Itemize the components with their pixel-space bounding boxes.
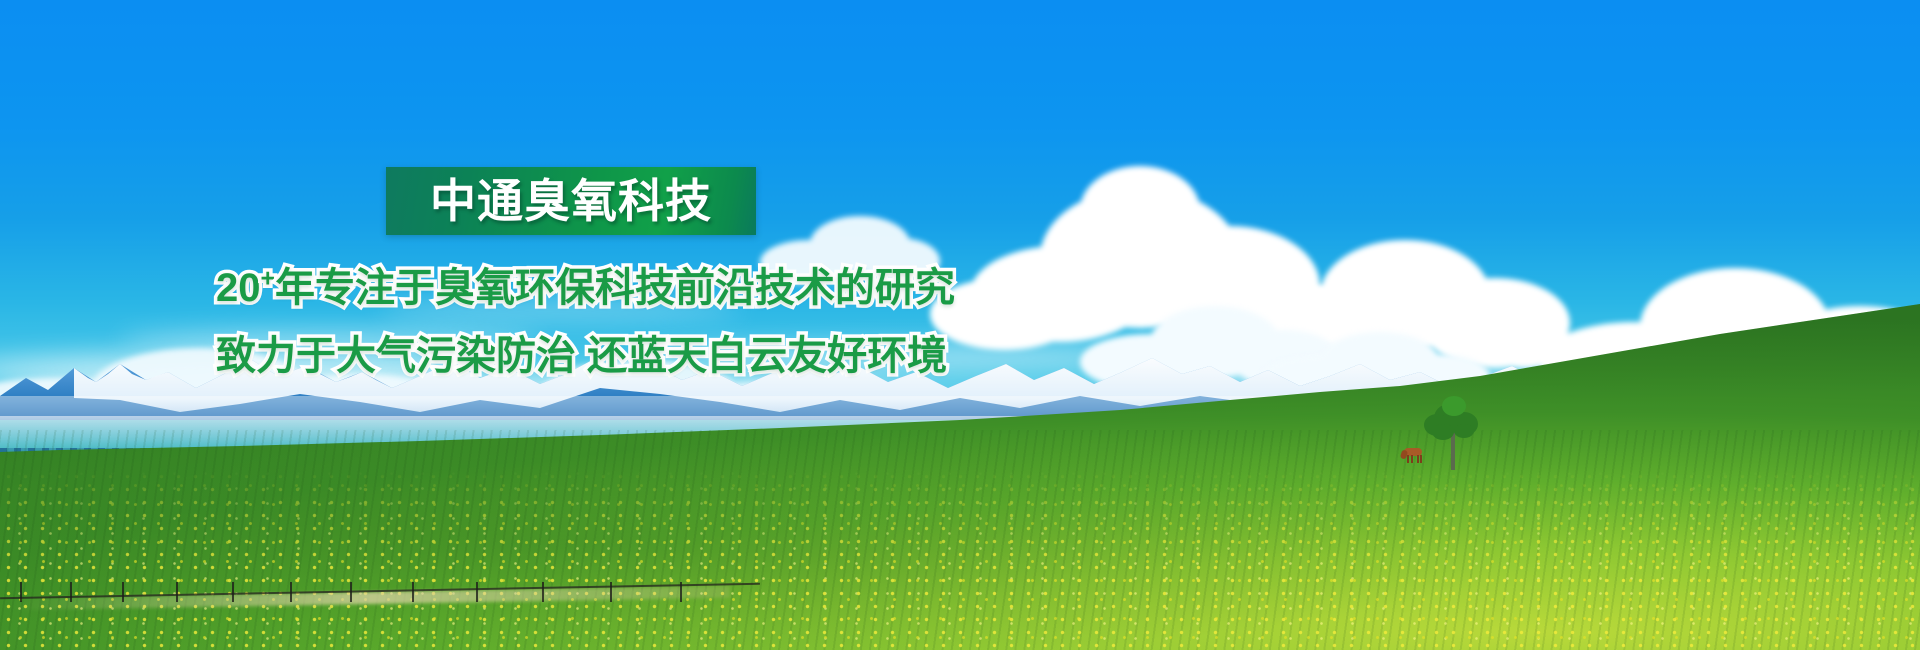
grazing-horse — [1400, 448, 1426, 464]
company-name-text: 中通臭氧科技 — [430, 178, 712, 224]
fence-post — [122, 582, 124, 602]
tagline-line-1-rest: 年专注于臭氧环保科技前沿技术的研究 — [275, 266, 955, 310]
fence-post — [476, 582, 478, 602]
fence-post — [350, 582, 352, 602]
fence-post — [20, 582, 22, 602]
tree-foliage — [1442, 396, 1466, 416]
fence-post — [290, 582, 292, 602]
tagline-line-1: 20+年专注于臭氧环保科技前沿技术的研究 — [216, 255, 955, 313]
tagline-line-2: 致力于大气污染防治 还蓝天白云友好环境 — [216, 323, 947, 381]
fence-post — [70, 582, 72, 602]
company-name-banner: 中通臭氧科技 — [386, 167, 756, 235]
wooden-fence — [0, 582, 760, 612]
horse-leg — [1411, 455, 1413, 463]
fence-post — [542, 582, 544, 602]
tagline-plus-superscript: + — [261, 266, 275, 293]
tagline-years-number: 20 — [216, 266, 261, 310]
lone-tree — [1424, 396, 1484, 470]
tree-foliage — [1454, 424, 1474, 438]
horse-leg — [1417, 455, 1419, 463]
yellow-flower-field — [0, 470, 1920, 650]
horse-leg — [1420, 455, 1422, 463]
fence-post — [176, 582, 178, 602]
fence-post — [680, 582, 682, 602]
fence-post — [232, 582, 234, 602]
hero-banner-image: 中通臭氧科技 20+年专注于臭氧环保科技前沿技术的研究 致力于大气污染防治 还蓝… — [0, 0, 1920, 650]
fence-post — [412, 582, 414, 602]
horse-leg — [1407, 455, 1409, 463]
tree-foliage — [1432, 424, 1454, 440]
fence-rail — [0, 583, 760, 600]
fence-post — [610, 582, 612, 602]
